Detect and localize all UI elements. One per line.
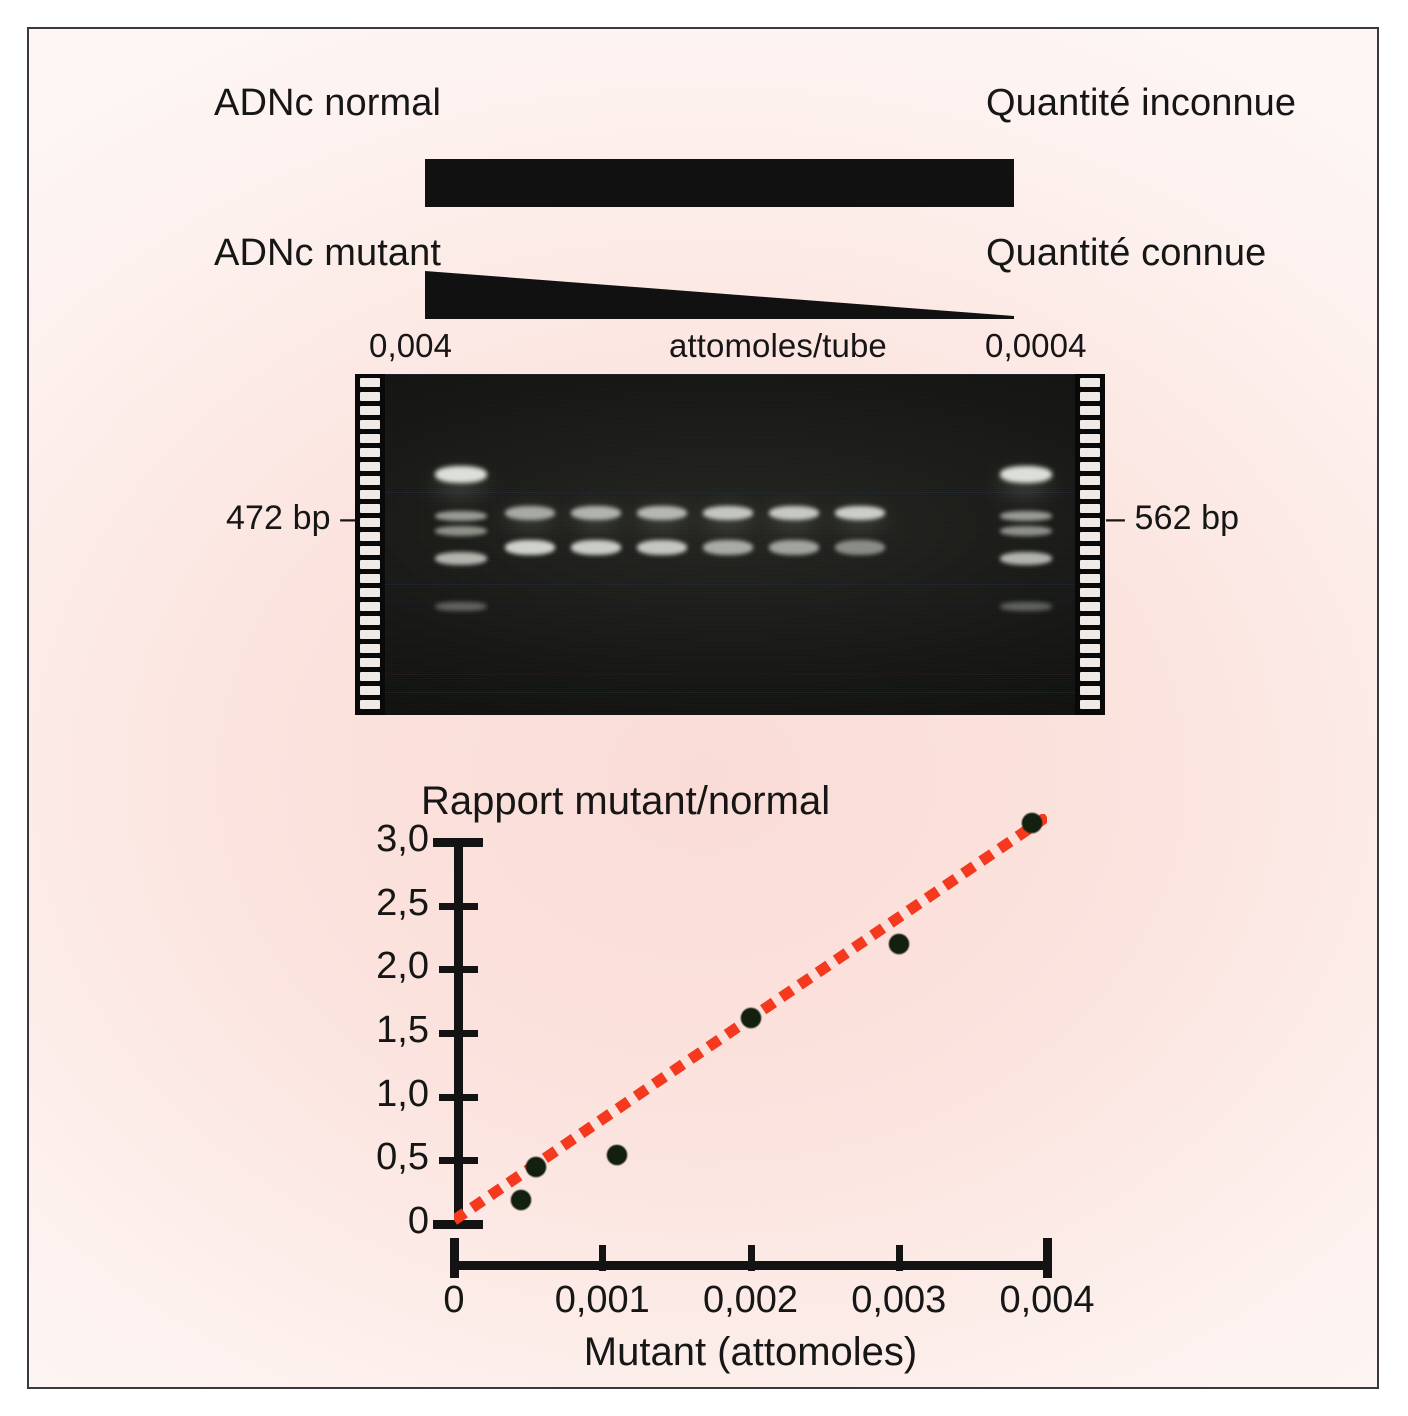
sprocket-hole (360, 476, 380, 485)
label-quantite-connue: Quantité connue (986, 232, 1266, 275)
gel-band (571, 540, 621, 555)
x-axis-tick-label: 0,004 (999, 1279, 1094, 1322)
y-axis-tick-label: 1,5 (329, 1009, 429, 1052)
label-562-bp: – 562 bp (1106, 499, 1239, 538)
gel-band (637, 540, 687, 555)
sprocket-hole (360, 700, 380, 709)
sprocket-hole (1080, 560, 1100, 569)
sprocket-hole (1080, 630, 1100, 639)
sprocket-hole (360, 686, 380, 695)
label-concentration-high: 0,004 (369, 327, 452, 365)
x-axis-tick-label: 0 (443, 1279, 464, 1322)
y-axis-tick-label: 2,0 (329, 945, 429, 988)
sprocket-hole (360, 532, 380, 541)
data-point (511, 1190, 530, 1209)
label-quantite-inconnue: Quantité inconnue (986, 82, 1296, 125)
figure-page: ADNc normal Quantité inconnue ADNc mutan… (0, 0, 1408, 1416)
film-sprocket-left (355, 374, 385, 715)
sprocket-hole (1080, 644, 1100, 653)
sprocket-hole (1080, 574, 1100, 583)
y-axis-tick-label: 0,5 (329, 1136, 429, 1179)
sprocket-hole (1080, 532, 1100, 541)
x-axis-tick (450, 1238, 459, 1278)
data-point (526, 1157, 545, 1176)
sprocket-hole (1080, 602, 1100, 611)
sprocket-hole (360, 462, 380, 471)
gel-band (435, 466, 487, 483)
sprocket-hole (1080, 616, 1100, 625)
sprocket-hole (1080, 476, 1100, 485)
gel-band (435, 511, 487, 521)
sprocket-hole (360, 490, 380, 499)
sprocket-hole (360, 616, 380, 625)
sprocket-hole (1080, 490, 1100, 499)
gel-band (769, 506, 819, 520)
x-axis-tick (599, 1245, 606, 1271)
gel-band (835, 506, 885, 520)
y-axis-tick-label: 0 (329, 1200, 429, 1243)
sprocket-hole (1080, 672, 1100, 681)
sprocket-hole (360, 644, 380, 653)
y-axis-tick-label: 2,5 (329, 882, 429, 925)
sprocket-hole (360, 434, 380, 443)
sprocket-hole (1080, 546, 1100, 555)
normal-cdna-bar (425, 159, 1014, 207)
sprocket-hole (360, 448, 380, 457)
data-point (741, 1008, 760, 1027)
gel-band (1000, 466, 1052, 483)
film-sprocket-right (1075, 374, 1105, 715)
label-adnc-mutant: ADNc mutant (214, 232, 441, 275)
gel-band (435, 526, 487, 536)
sprocket-hole (1080, 462, 1100, 471)
sprocket-hole (1080, 406, 1100, 415)
sprocket-hole (1080, 378, 1100, 387)
label-472-bp: 472 bp – (226, 499, 359, 538)
sprocket-hole (360, 574, 380, 583)
data-point (608, 1146, 627, 1165)
x-axis-tick-label: 0,002 (703, 1279, 798, 1322)
sprocket-hole (360, 518, 380, 527)
gel-band (1000, 552, 1052, 565)
gel-band (505, 506, 555, 520)
gel-band (571, 506, 621, 520)
agarose-gel-photograph (355, 374, 1105, 715)
gel-band (1000, 526, 1052, 536)
sprocket-hole (1080, 392, 1100, 401)
label-concentration-unit: attomoles/tube (669, 327, 887, 365)
gel-lanes-area (385, 374, 1075, 715)
gel-film-line (385, 584, 1075, 585)
label-adnc-normal: ADNc normal (214, 82, 441, 125)
data-point (889, 934, 908, 953)
sprocket-hole (1080, 448, 1100, 457)
x-axis-tick (1043, 1238, 1052, 1278)
mutant-cdna-gradient-wedge (425, 271, 1014, 320)
gel-film-line (385, 692, 1075, 693)
x-axis-tick-label: 0,003 (851, 1279, 946, 1322)
label-concentration-low: 0,0004 (985, 327, 1087, 365)
gel-band (703, 540, 753, 555)
gel-band (1000, 602, 1052, 611)
sprocket-hole (1080, 658, 1100, 667)
x-axis-tick-label: 0,001 (555, 1279, 650, 1322)
sprocket-hole (360, 672, 380, 681)
sprocket-hole (360, 378, 380, 387)
gel-film-line (385, 674, 1075, 675)
sprocket-hole (360, 658, 380, 667)
sprocket-hole (360, 392, 380, 401)
y-axis-tick-label: 1,0 (329, 1073, 429, 1116)
gel-band (1000, 511, 1052, 521)
sprocket-hole (360, 560, 380, 569)
gel-band (505, 540, 555, 555)
x-axis-title: Mutant (attomoles) (454, 1330, 1047, 1375)
gel-film-line (385, 374, 1075, 375)
sprocket-hole (360, 546, 380, 555)
y-axis-tick-label: 3,0 (329, 818, 429, 861)
sprocket-hole (360, 630, 380, 639)
gel-band (637, 506, 687, 520)
figure-frame: ADNc normal Quantité inconnue ADNc mutan… (27, 27, 1379, 1389)
gel-band (769, 540, 819, 555)
gel-band (435, 602, 487, 611)
x-axis-tick (896, 1245, 903, 1271)
sprocket-hole (360, 406, 380, 415)
sprocket-hole (360, 504, 380, 513)
gel-film-line (385, 602, 1075, 603)
sprocket-hole (360, 588, 380, 597)
plot-area (454, 814, 1047, 1226)
gel-band (435, 552, 487, 565)
gel-band (835, 540, 885, 555)
sprocket-hole (1080, 504, 1100, 513)
sprocket-hole (1080, 700, 1100, 709)
sprocket-hole (1080, 686, 1100, 695)
sprocket-hole (1080, 420, 1100, 429)
sprocket-hole (360, 602, 380, 611)
gel-band (703, 506, 753, 520)
data-point (1023, 813, 1042, 832)
x-axis-tick (748, 1245, 755, 1271)
sprocket-hole (1080, 588, 1100, 597)
sprocket-hole (1080, 518, 1100, 527)
sprocket-hole (360, 420, 380, 429)
calibration-scatter-chart: Rapport mutant/normal 00,51,01,52,02,53,… (329, 774, 1119, 1374)
sprocket-hole (1080, 434, 1100, 443)
